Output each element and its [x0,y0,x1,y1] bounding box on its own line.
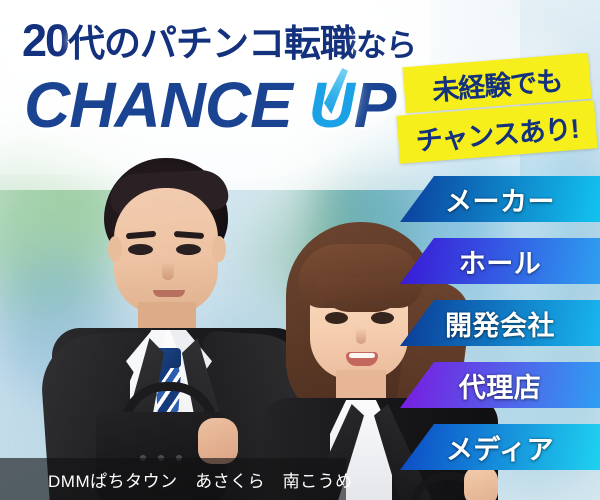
man-eye-left [128,244,153,255]
advertisement-banner[interactable]: 20代のパチンコ転職なら CHANCE UP 未経験でも チャンスあり! メーカ… [0,0,600,500]
logo-chance-text: CHANCE [24,69,309,141]
headline-text: 20代のパチンコ転職なら [22,18,452,63]
man-eye-right [176,244,201,255]
woman-eye-left [325,312,348,324]
woman-nose [356,328,366,344]
headline-body: 代のパチンコ転職 [68,23,356,64]
credit-bar: DMMぱちタウン あさくら 南こうめ [0,458,346,500]
promo-badge: 未経験でも チャンスあり! [398,58,598,162]
category-list: メーカー ホール 開発会社 代理店 メディア [400,176,600,486]
woman-eye-right [371,312,394,324]
woman-mouth [346,352,378,366]
credit-text: DMMぱちタウン あさくら 南こうめ [0,467,353,492]
category-button-media[interactable]: メディア [400,424,600,470]
category-button-hall[interactable]: ホール [400,238,600,284]
man-ear-left [108,236,122,262]
chance-up-logo: CHANCE UP [24,70,444,140]
category-button-maker[interactable]: メーカー [400,176,600,222]
headline-number: 20 [22,15,68,66]
logo-letter-p: P [354,69,396,141]
man-nose [162,262,174,280]
category-button-developer[interactable]: 開発会社 [400,300,600,346]
man-ear-right [212,236,226,262]
man-mouth [153,290,185,297]
category-button-agency[interactable]: 代理店 [400,362,600,408]
